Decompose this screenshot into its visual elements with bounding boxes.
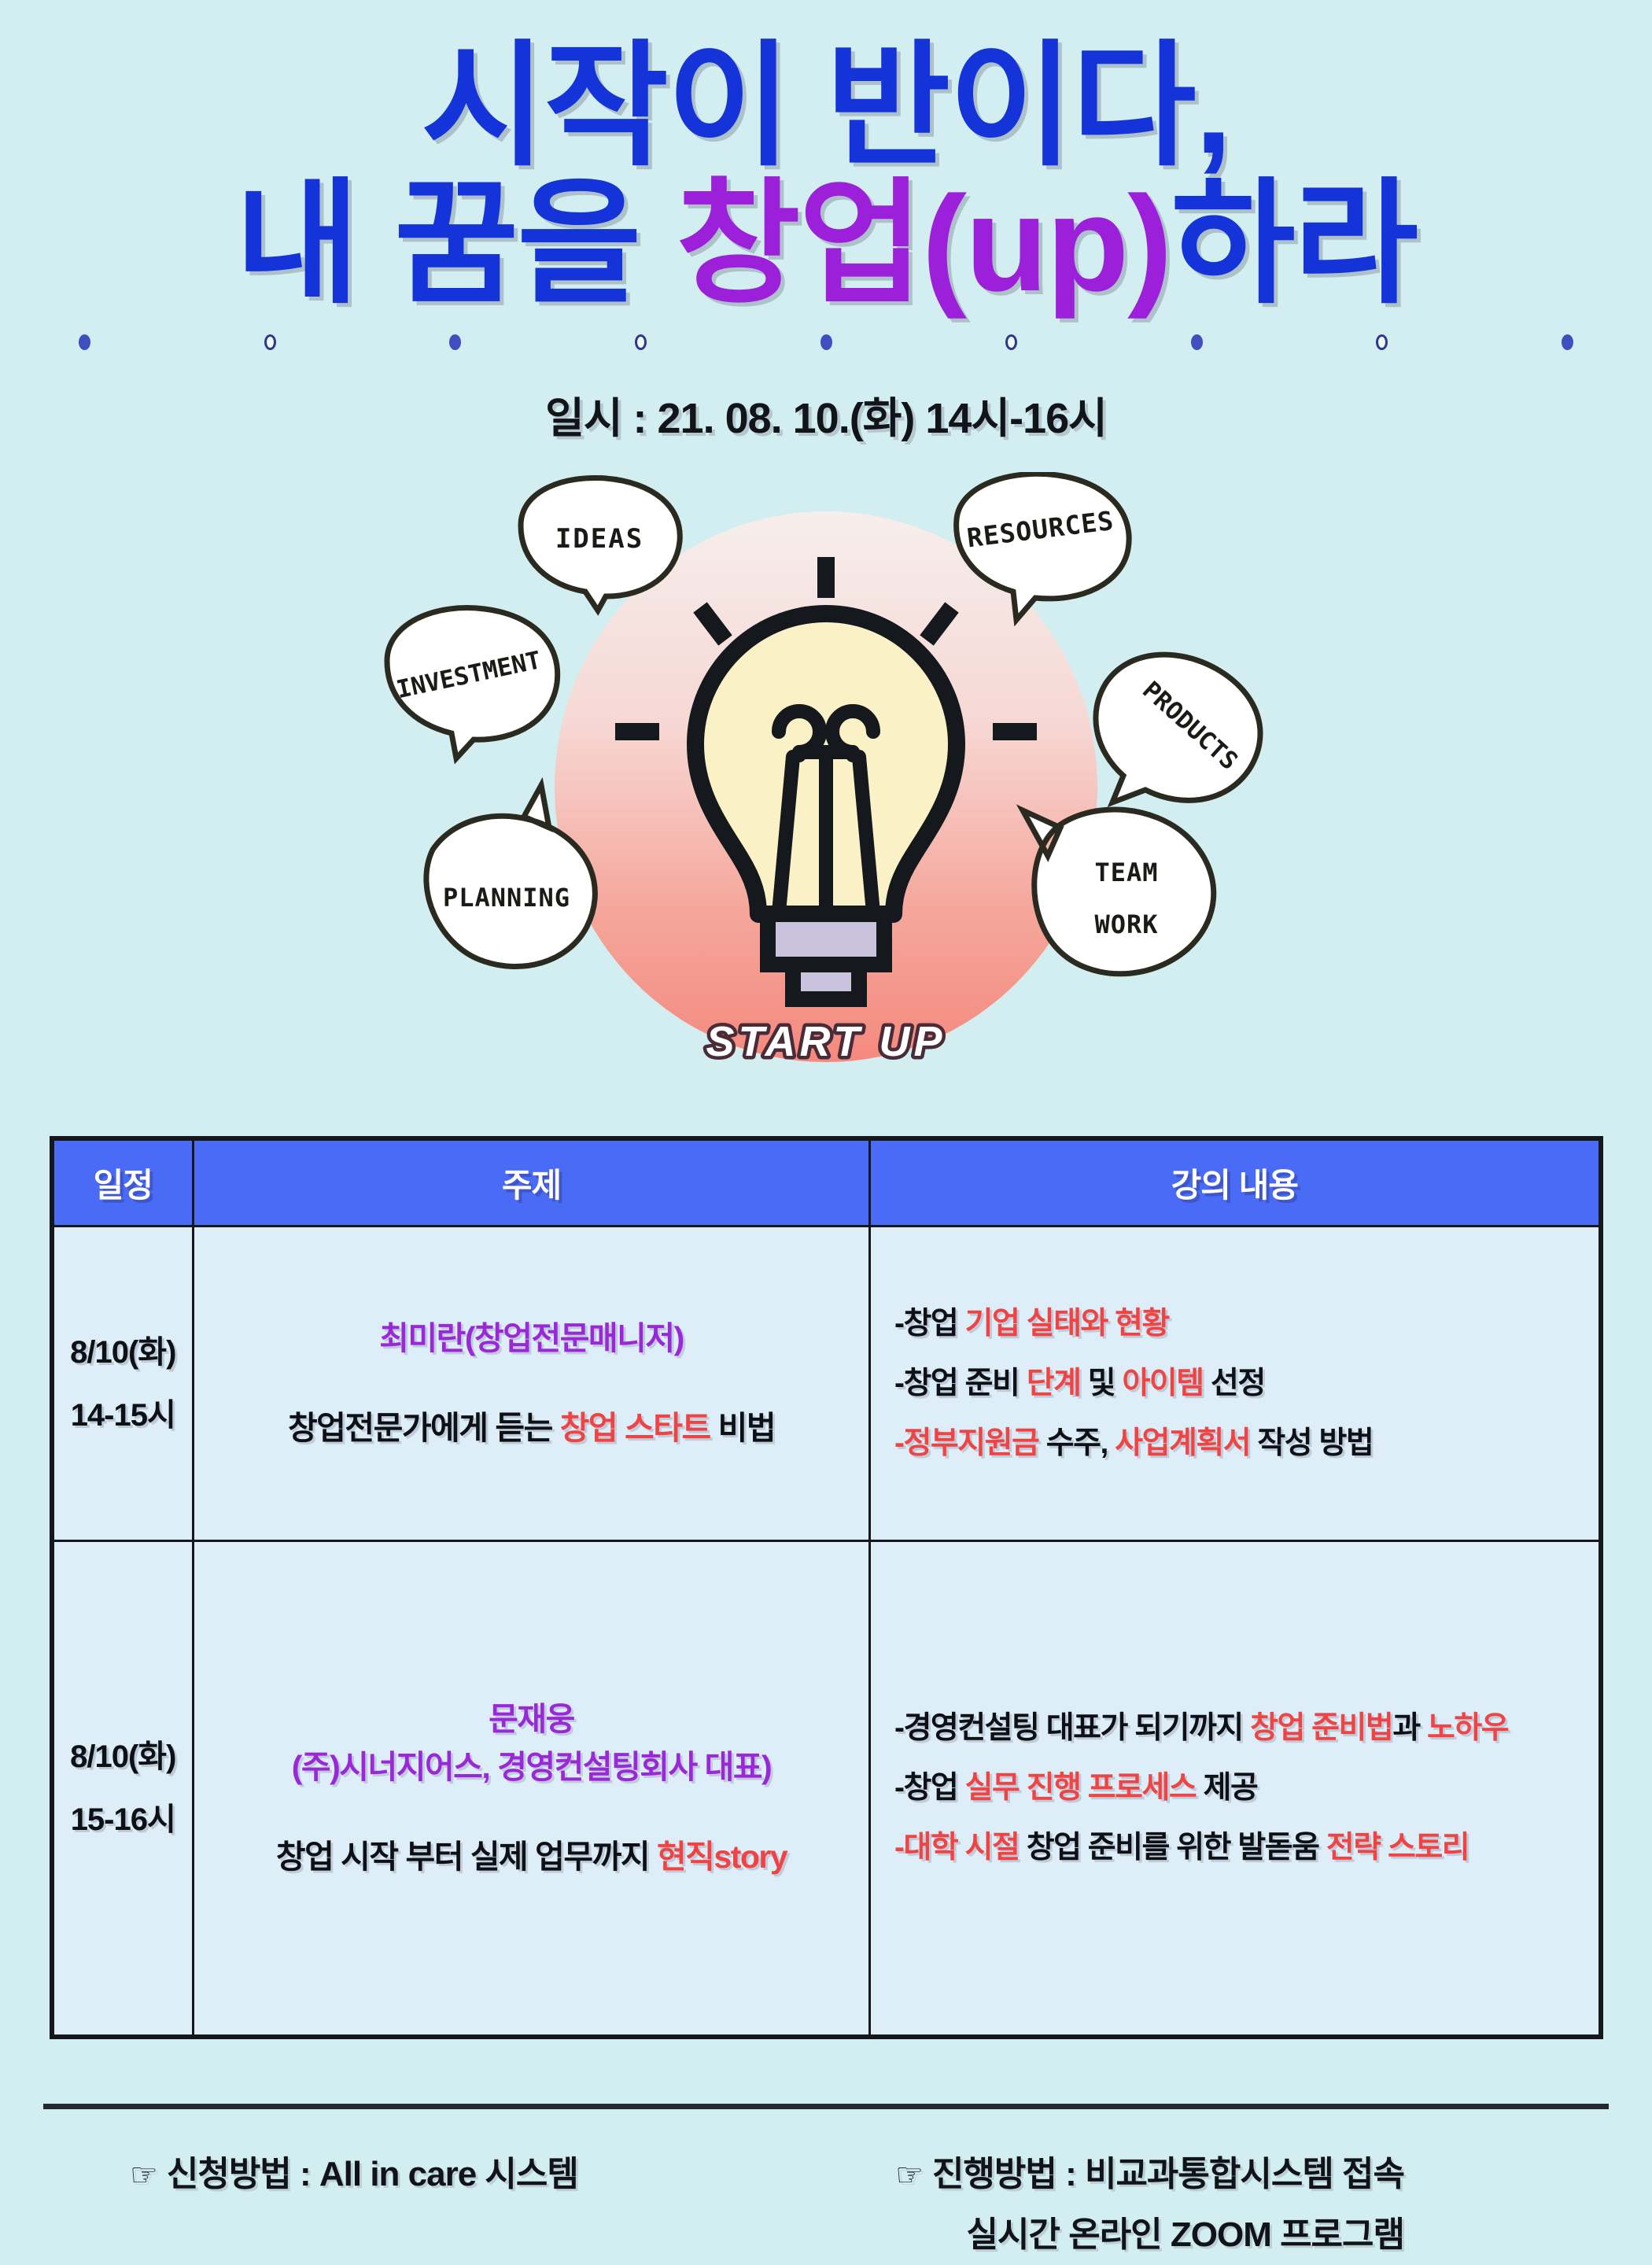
- hand-point-right-icon: ☞: [895, 2158, 923, 2193]
- row2-topic-pre: 창업 시작 부터 실제 업무까지: [276, 1839, 657, 1875]
- desc-highlight: 창업 준비법: [1250, 1711, 1392, 1745]
- divider-dot: [820, 334, 832, 350]
- bubble-teamwork: TEAM WORK: [1023, 810, 1214, 974]
- row2-when-date: 8/10(화): [57, 1725, 190, 1788]
- row1-desc: -창업 기업 실태와 현황-창업 준비 단계 및 아이템 선정-정부지원금 수주…: [870, 1227, 1601, 1541]
- svg-text:PLANNING: PLANNING: [443, 883, 570, 913]
- row2-speaker-affiliation: (주)시너지어스, 경영컨설팅회사 대표): [210, 1743, 853, 1792]
- row1-topic-post: 비법: [710, 1410, 775, 1446]
- divider-dot: [635, 334, 647, 350]
- table-header-row: 일정 주제 강의 내용: [52, 1138, 1601, 1227]
- desc-line: -창업 기업 실태와 현황: [894, 1294, 1583, 1354]
- title-line-2-highlight: 창업(up): [676, 168, 1171, 319]
- divider-dot: [1376, 334, 1388, 350]
- desc-text: 작성 방법: [1250, 1426, 1373, 1460]
- desc-highlight: 단계: [1027, 1367, 1081, 1400]
- title-line-2-prefix: 내 꿈을: [235, 168, 676, 319]
- divider-dot: [264, 334, 276, 350]
- footer-delivery-method: ☞진행방법 : 비교과통합시스템 접속 실시간 온라인 ZOOM 프로그램: [895, 2144, 1609, 2265]
- divider-dot: [1005, 334, 1017, 350]
- poster-title-block: 시작이 반이다, 내 꿈을 창업(up)하라: [0, 0, 1652, 314]
- footer-right-line-2: 실시간 온라인 ZOOM 프로그램: [895, 2204, 1404, 2265]
- desc-line: -창업 준비 단계 및 아이템 선정: [894, 1354, 1583, 1414]
- table-row: 8/10(화) 14-15시 최미란(창업전문매니저) 창업전문가에게 듣는 창…: [52, 1227, 1601, 1541]
- row2-topic: 문재웅 (주)시너지어스, 경영컨설팅회사 대표) 창업 시작 부터 실제 업무…: [194, 1541, 870, 2037]
- event-datetime: 일시 : 21. 08. 10.(화) 14시-16시: [0, 383, 1652, 445]
- footer: ☞신청방법 : All in care 시스템 ☞진행방법 : 비교과통합시스템…: [43, 2144, 1609, 2265]
- title-line-2-suffix: 하라: [1171, 168, 1416, 319]
- desc-highlight: 사업계획서: [1115, 1426, 1250, 1460]
- footer-left-line: ☞신청방법 : All in care 시스템: [130, 2144, 578, 2204]
- row2-desc-list: -경영컨설팅 대표가 되기까지 창업 준비법과 노하우-창업 실무 진행 프로세…: [894, 1699, 1583, 1878]
- row1-topic-pre: 창업전문가에게 듣는: [288, 1410, 560, 1446]
- table-header-when: 일정: [52, 1138, 194, 1227]
- row1-topic-title: 창업전문가에게 듣는 창업 스타트 비법: [210, 1404, 853, 1453]
- desc-text: -경영컨설팅 대표가 되기까지: [894, 1711, 1250, 1745]
- desc-highlight: 전략 스토리: [1326, 1831, 1469, 1865]
- footer-apply-method: ☞신청방법 : All in care 시스템: [43, 2144, 578, 2204]
- desc-text: 과: [1392, 1711, 1427, 1745]
- desc-highlight: 대학 시절: [904, 1831, 1020, 1865]
- table-row: 8/10(화) 15-16시 문재웅 (주)시너지어스, 경영컨설팅회사 대표)…: [52, 1541, 1601, 2037]
- desc-text: 및: [1080, 1367, 1122, 1400]
- schedule-table: 일정 주제 강의 내용 8/10(화) 14-15시 최미란(창업전문매니저) …: [50, 1136, 1603, 2039]
- divider-dot: [1562, 334, 1573, 350]
- table-header-topic: 주제: [194, 1138, 870, 1227]
- table-header: 일정 주제 강의 내용: [52, 1138, 1601, 1227]
- startup-label: START UP: [706, 1018, 946, 1065]
- row1-topic: 최미란(창업전문매니저) 창업전문가에게 듣는 창업 스타트 비법: [194, 1227, 870, 1541]
- row2-topic-title: 창업 시작 부터 실제 업무까지 현직story: [210, 1833, 853, 1882]
- row1-topic-highlight: 창업 스타트: [560, 1410, 710, 1446]
- svg-text:TEAM: TEAM: [1094, 858, 1158, 887]
- footer-right-line-1: ☞진행방법 : 비교과통합시스템 접속: [895, 2144, 1404, 2204]
- startup-illustration: START UP IDEAS RESOURCES INVESTMENT PROD…: [338, 472, 1314, 1101]
- table-header-desc: 강의 내용: [870, 1138, 1601, 1227]
- desc-text: -창업: [894, 1307, 965, 1341]
- hand-point-right-icon: ☞: [130, 2158, 157, 2193]
- footer-divider: [43, 2104, 1609, 2109]
- desc-highlight: 기업 실태와 현황: [965, 1307, 1169, 1341]
- row1-when: 8/10(화) 14-15시: [52, 1227, 194, 1541]
- desc-text: -창업: [894, 1771, 965, 1805]
- row1-when-time: 14-15시: [57, 1384, 190, 1447]
- desc-highlight: 노하우: [1427, 1711, 1508, 1745]
- bubble-products: PRODUCTS: [1096, 655, 1260, 802]
- desc-text: 제공: [1196, 1771, 1257, 1805]
- row1-topic-spacer: [210, 1363, 853, 1404]
- desc-text: 수주,: [1038, 1426, 1115, 1460]
- row2-speaker-name: 문재웅: [210, 1695, 853, 1744]
- footer-right-text-1: 진행방법 : 비교과통합시스템 접속: [932, 2155, 1404, 2193]
- row2-topic-highlight: 현직story: [657, 1839, 787, 1875]
- desc-line: -창업 실무 진행 프로세스 제공: [894, 1758, 1583, 1818]
- row2-when-time: 15-16시: [57, 1788, 190, 1851]
- bubble-investment: INVESTMENT: [387, 607, 558, 758]
- row1-desc-list: -창업 기업 실태와 현황-창업 준비 단계 및 아이템 선정-정부지원금 수주…: [894, 1294, 1583, 1474]
- row2-desc: -경영컨설팅 대표가 되기까지 창업 준비법과 노하우-창업 실무 진행 프로세…: [870, 1541, 1601, 2037]
- desc-highlight: 정부지원금: [904, 1426, 1039, 1460]
- footer-left-text: 신청방법 : All in care 시스템: [167, 2155, 578, 2193]
- desc-highlight: 아이템: [1123, 1367, 1204, 1400]
- title-line-1: 시작이 반이다,: [0, 38, 1652, 175]
- desc-text: -창업 준비: [894, 1367, 1027, 1400]
- desc-line: -대학 시절 창업 준비를 위한 발돋움 전략 스토리: [894, 1818, 1583, 1878]
- dot-divider: [79, 334, 1573, 350]
- row2-topic-spacer: [210, 1792, 853, 1833]
- row1-speaker: 최미란(창업전문매니저): [210, 1315, 853, 1363]
- desc-highlight: 실무 진행 프로세스: [965, 1771, 1197, 1805]
- svg-text:WORK: WORK: [1094, 909, 1158, 939]
- divider-dot: [449, 334, 461, 350]
- desc-line: -경영컨설팅 대표가 되기까지 창업 준비법과 노하우: [894, 1699, 1583, 1758]
- divider-dot: [1191, 334, 1203, 350]
- desc-text: 창업 준비를 위한 발돋움: [1019, 1831, 1326, 1865]
- title-line-2: 내 꿈을 창업(up)하라: [0, 175, 1652, 313]
- svg-text:IDEAS: IDEAS: [555, 523, 643, 555]
- desc-highlight: -: [894, 1426, 904, 1460]
- row1-when-date: 8/10(화): [57, 1321, 190, 1384]
- desc-line: -정부지원금 수주, 사업계획서 작성 방법: [894, 1414, 1583, 1474]
- divider-dot: [79, 334, 90, 350]
- bulb-contact: [793, 965, 859, 999]
- table-body: 8/10(화) 14-15시 최미란(창업전문매니저) 창업전문가에게 듣는 창…: [52, 1227, 1601, 2037]
- row2-when: 8/10(화) 15-16시: [52, 1541, 194, 2037]
- desc-text: 선정: [1204, 1367, 1265, 1400]
- desc-highlight: -: [894, 1831, 904, 1865]
